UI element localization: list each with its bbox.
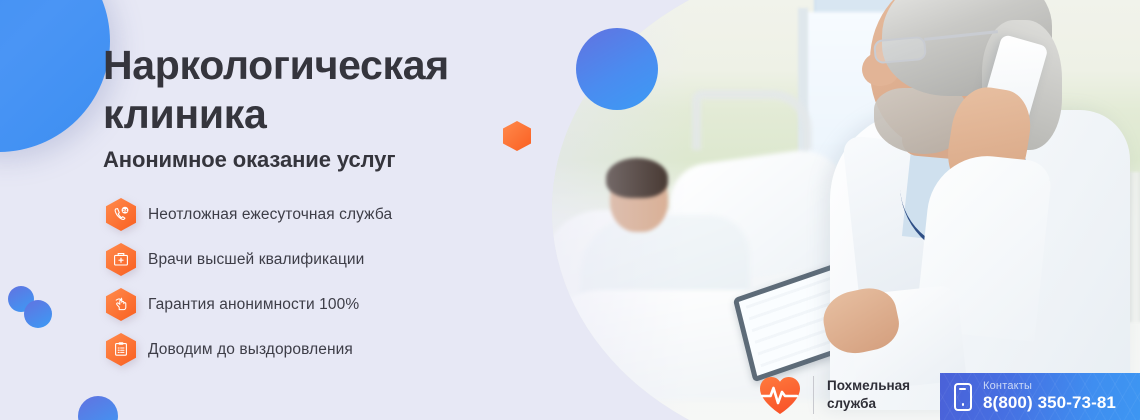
feature-item: Доводим до выздоровления	[106, 327, 526, 372]
contacts-phone-number[interactable]: 8(800) 350-73-81	[983, 393, 1116, 413]
page-subtitle: Анонимное оказание услуг	[103, 147, 395, 173]
promo-banner: Наркологическая клиника Анонимное оказан…	[0, 0, 1140, 420]
feature-label: Доводим до выздоровления	[148, 341, 353, 359]
svg-text:24: 24	[123, 208, 128, 213]
clipboard-checklist-icon	[106, 333, 136, 366]
logo-text: Похмельная служба	[827, 377, 910, 413]
phone-24h-icon: 24	[106, 198, 136, 231]
heart-pulse-icon	[758, 374, 802, 416]
mobile-phone-icon	[954, 383, 972, 411]
patient-hair	[606, 158, 668, 198]
page-title: Наркологическая клиника	[103, 41, 523, 139]
circle-top-left-decoration	[0, 0, 110, 152]
contact-text: Контакты 8(800) 350-73-81	[983, 380, 1116, 413]
contacts-block[interactable]: Контакты 8(800) 350-73-81	[940, 373, 1140, 420]
brand-logo[interactable]: Похмельная служба	[758, 374, 910, 416]
dot-left-lower-decoration	[24, 300, 52, 328]
dot-bottom-left-decoration	[78, 396, 118, 420]
feature-label: Гарантия анонимности 100%	[148, 296, 359, 314]
feature-label: Неотложная ежесуточная служба	[148, 206, 392, 224]
feature-item: 24 Неотложная ежесуточная служба	[106, 192, 526, 237]
feature-label: Врачи высшей квалификации	[148, 251, 364, 269]
circle-middle-decoration	[576, 28, 658, 110]
glasses-lens	[873, 36, 927, 64]
feature-item: Врачи высшей квалификации	[106, 237, 526, 282]
logo-line-1: Похмельная	[827, 378, 910, 393]
medical-bag-icon	[106, 243, 136, 276]
bed-rail	[692, 90, 812, 150]
logo-divider	[813, 376, 814, 414]
hand-gesture-icon	[106, 288, 136, 321]
feature-list: 24 Неотложная ежесуточная служба Врачи в…	[106, 192, 526, 372]
feature-item: Гарантия анонимности 100%	[106, 282, 526, 327]
logo-line-2: служба	[827, 396, 876, 411]
contacts-label: Контакты	[983, 380, 1116, 393]
